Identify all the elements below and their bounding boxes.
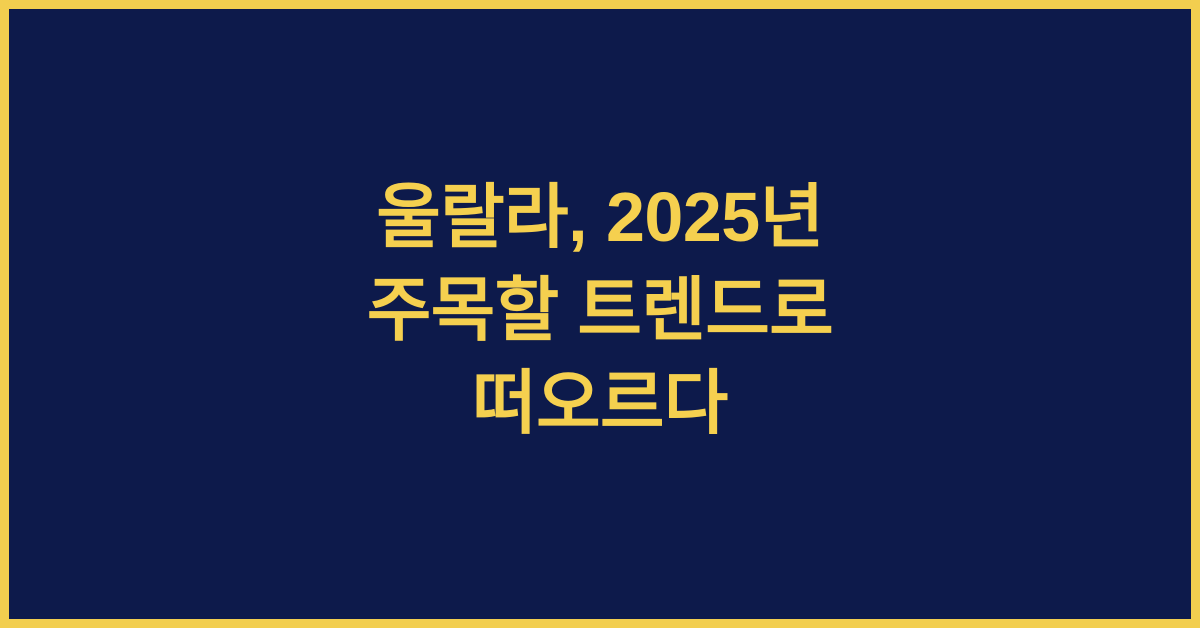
- headline-line-3: 떠오르다: [9, 357, 1191, 450]
- banner-canvas: 울랄라, 2025년 주목할 트렌드로 떠오르다: [0, 0, 1200, 628]
- headline-line-2: 주목할 트렌드로: [9, 264, 1191, 357]
- headline-line-1: 울랄라, 2025년: [9, 171, 1191, 264]
- banner-headline: 울랄라, 2025년 주목할 트렌드로 떠오르다: [9, 171, 1191, 450]
- banner-inner-panel: 울랄라, 2025년 주목할 트렌드로 떠오르다: [9, 9, 1191, 619]
